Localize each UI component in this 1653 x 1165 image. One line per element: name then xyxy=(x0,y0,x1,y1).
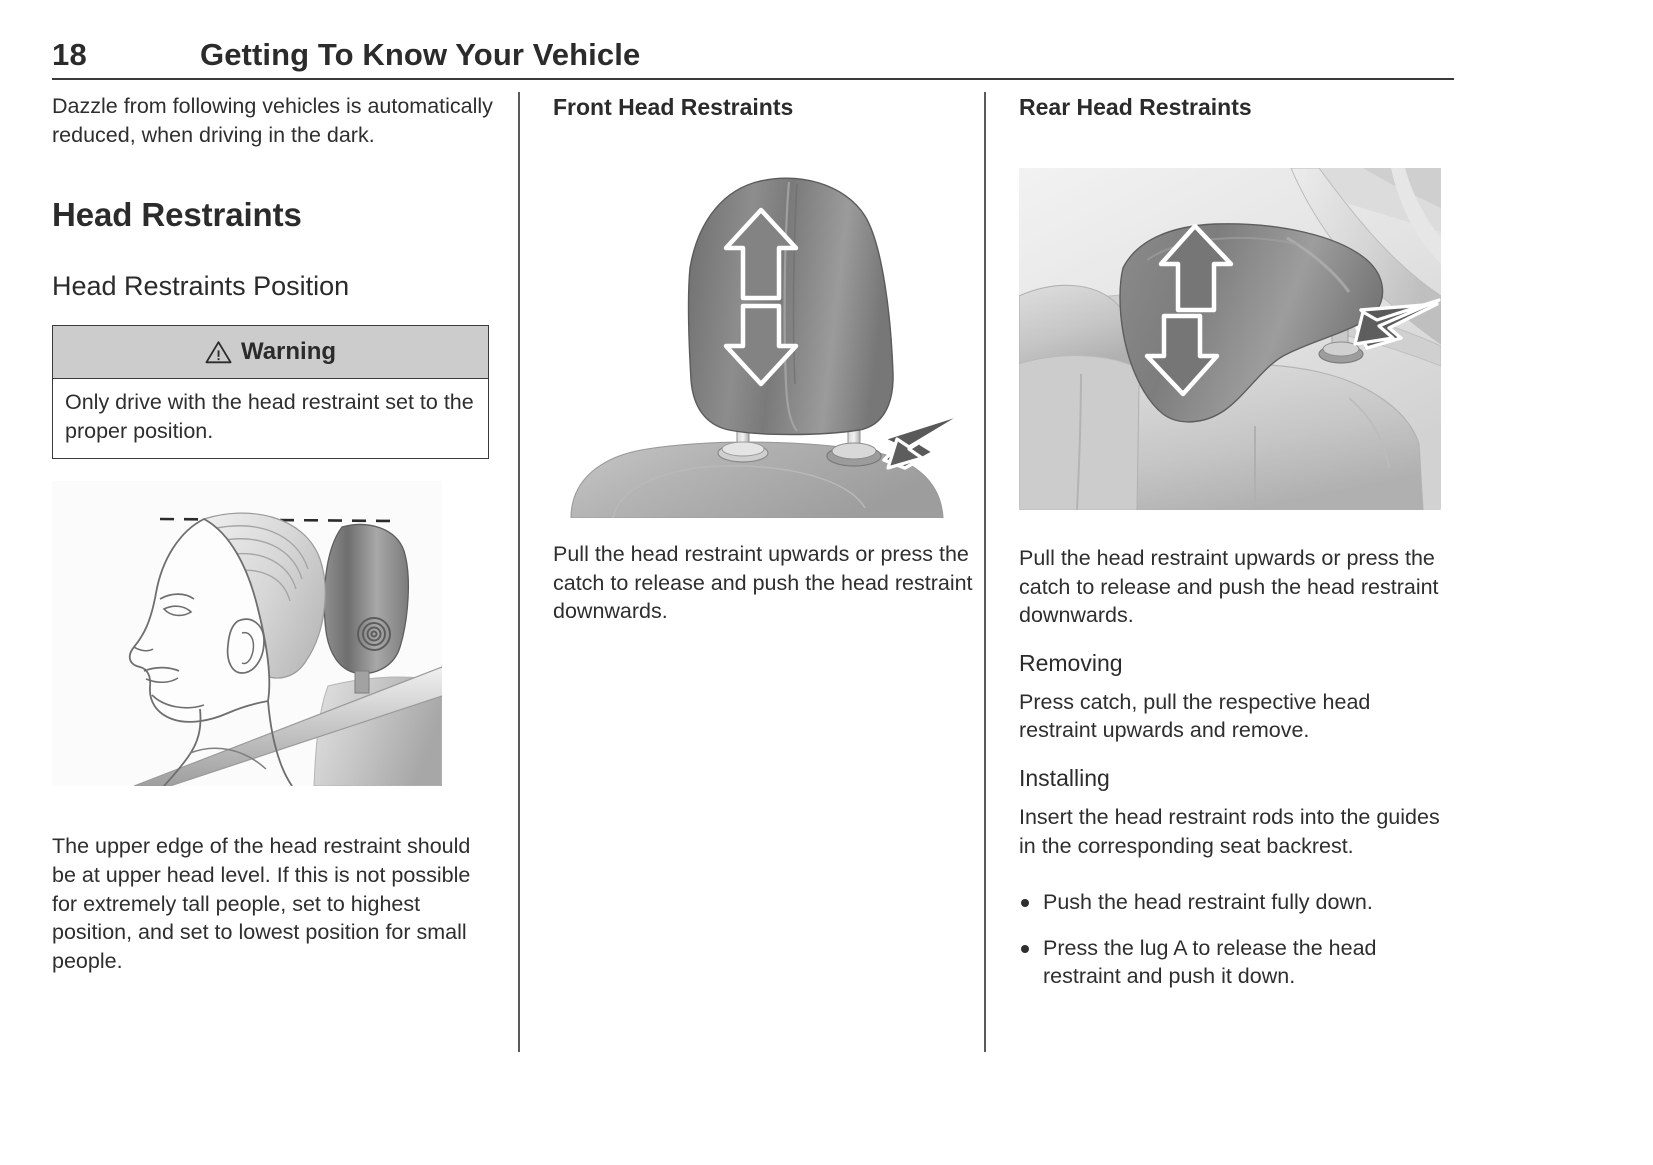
front-head-restraint-illustration xyxy=(553,168,984,518)
list-item: Press the lug A to release the head rest… xyxy=(1019,934,1450,991)
section-heading-head-restraints: Head Restraints xyxy=(52,195,498,235)
right-column: Rear Head Restraints xyxy=(984,92,1450,1052)
list-item-label: Press the lug A to release the head rest… xyxy=(1043,934,1450,991)
installing-paragraph: Insert the head restraint rods into the … xyxy=(1019,803,1450,860)
left-column: Dazzle from following vehicles is automa… xyxy=(52,92,518,1052)
intro-paragraph: Dazzle from following vehicles is automa… xyxy=(52,92,498,149)
heading-installing: Installing xyxy=(1019,763,1450,793)
heading-rear-head-restraints: Rear Head Restraints xyxy=(1019,92,1450,122)
removing-paragraph: Press catch, pull the respective head re… xyxy=(1019,688,1450,745)
rear-head-restraint-illustration xyxy=(1019,168,1450,510)
warning-box-body: Only drive with the head restraint set t… xyxy=(53,379,488,458)
subsection-heading-head-restraints-position: Head Restraints Position xyxy=(52,269,498,303)
page-number: 18 xyxy=(52,36,200,74)
middle-column: Front Head Restraints xyxy=(518,92,984,1052)
heading-front-head-restraints: Front Head Restraints xyxy=(553,92,984,122)
warning-box: Warning Only drive with the head restrai… xyxy=(52,325,489,459)
warning-box-header: Warning xyxy=(53,326,488,379)
bullet-dot-icon xyxy=(1021,945,1029,953)
front-restraint-paragraph: Pull the head restraint upwards or press… xyxy=(553,540,984,626)
manual-page: 18 Getting To Know Your Vehicle Dazzle f… xyxy=(0,0,1653,1165)
page-title: Getting To Know Your Vehicle xyxy=(200,36,640,74)
left-figure-caption: The upper edge of the head restraint sho… xyxy=(52,832,498,975)
list-item: Push the head restraint fully down. xyxy=(1019,888,1450,917)
page-header: 18 Getting To Know Your Vehicle xyxy=(52,36,1454,80)
warning-label: Warning xyxy=(241,338,336,366)
heading-removing: Removing xyxy=(1019,648,1450,678)
installing-bullet-list: Push the head restraint fully down. Pres… xyxy=(1019,888,1450,991)
list-item-label: Push the head restraint fully down. xyxy=(1043,888,1450,917)
warning-triangle-icon xyxy=(205,340,232,364)
bullet-dot-icon xyxy=(1021,899,1029,907)
warning-text: Only drive with the head restraint set t… xyxy=(65,388,476,445)
head-restraint-position-illustration xyxy=(52,481,498,786)
content-columns: Dazzle from following vehicles is automa… xyxy=(52,92,1454,1052)
rear-restraint-paragraph: Pull the head restraint upwards or press… xyxy=(1019,544,1450,630)
